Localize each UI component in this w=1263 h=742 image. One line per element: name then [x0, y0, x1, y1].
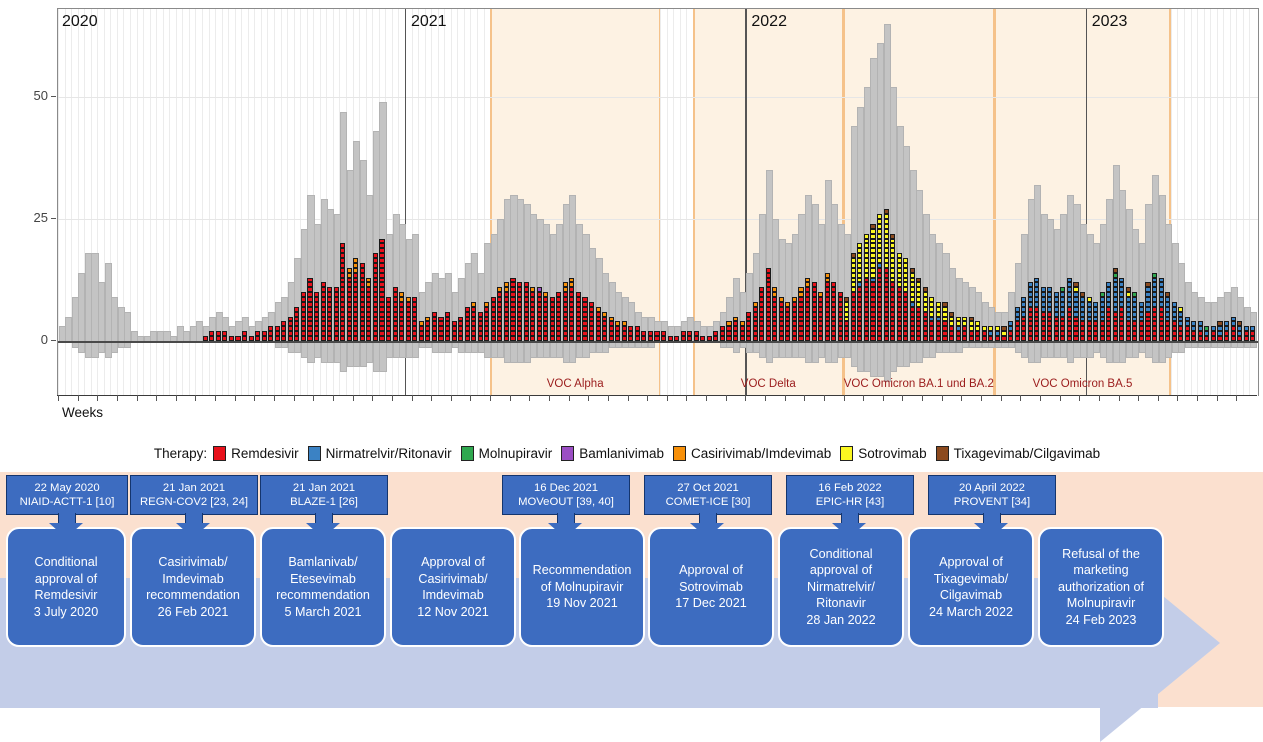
therapy-cell — [314, 326, 319, 331]
therapy-cell — [1237, 321, 1242, 326]
therapy-cell — [340, 282, 345, 287]
therapy-cell — [373, 282, 378, 287]
therapy-cell — [393, 331, 398, 336]
therapy-cell — [510, 282, 515, 287]
therapy-cell — [340, 326, 345, 331]
therapy-cell — [884, 239, 889, 244]
therapy-cell — [1211, 326, 1216, 331]
x-axis-tick — [981, 395, 982, 401]
therapy-cell — [301, 292, 306, 297]
legend-swatch-icon — [840, 446, 853, 461]
therapy-cell — [1021, 312, 1026, 317]
therapy-cell — [478, 312, 483, 317]
x-axis-tick — [1060, 395, 1061, 401]
therapy-cell — [576, 317, 581, 322]
therapy-cell — [890, 317, 895, 322]
therapy-cell — [1172, 326, 1177, 331]
therapy-cell — [753, 302, 758, 307]
therapy-cell — [347, 278, 352, 283]
therapy-cell — [766, 268, 771, 273]
therapy-cell — [694, 331, 699, 336]
therapy-cell — [484, 302, 489, 307]
therapy-cell — [307, 317, 312, 322]
therapy-cell — [301, 326, 306, 331]
therapy-cell — [1145, 331, 1150, 336]
therapy-cell — [805, 287, 810, 292]
therapy-cell — [628, 331, 633, 336]
therapy-cell — [759, 321, 764, 326]
therapy-cell — [798, 287, 803, 292]
therapy-cell — [334, 307, 339, 312]
therapy-cell — [753, 312, 758, 317]
therapy-cell — [1106, 312, 1111, 317]
therapy-cell — [903, 258, 908, 263]
therapy-cell — [399, 302, 404, 307]
therapy-cell — [877, 263, 882, 268]
therapy-cell — [929, 331, 934, 336]
x-axis-tick — [97, 395, 98, 401]
therapy-cell — [1054, 292, 1059, 297]
therapy-cell — [347, 321, 352, 326]
therapy-cell — [425, 321, 430, 326]
legend-item-molnupiravir: Molnupiravir — [461, 446, 553, 461]
timeline-outcome-box[interactable]: Refusal of the marketing authorization o… — [1038, 527, 1164, 647]
therapy-cell — [550, 307, 555, 312]
therapy-cell — [1237, 326, 1242, 331]
therapy-cell — [1015, 321, 1020, 326]
therapy-cell — [393, 321, 398, 326]
therapy-cell — [857, 268, 862, 273]
therapy-cell — [831, 321, 836, 326]
therapy-cell — [910, 278, 915, 283]
therapy-cell — [897, 317, 902, 322]
therapy-cell — [262, 331, 267, 336]
timeline-outcome-box[interactable]: Approval of Tixagevimab/ Cilgavimab 24 M… — [908, 527, 1034, 647]
therapy-cell — [379, 331, 384, 336]
therapy-cell — [857, 302, 862, 307]
timeline-down-arrow-icon — [49, 513, 83, 539]
therapy-cell — [478, 317, 483, 322]
therapy-cell — [818, 317, 823, 322]
therapy-cell — [484, 326, 489, 331]
therapy-cell — [1047, 317, 1052, 322]
therapy-cell — [1054, 312, 1059, 317]
timeline-outcome-box[interactable]: Casirivimab/ Imdevimab recommendation 26… — [130, 527, 256, 647]
therapy-cell — [497, 297, 502, 302]
therapy-cell — [877, 287, 882, 292]
therapy-cell — [864, 292, 869, 297]
x-axis-tick — [1197, 395, 1198, 401]
therapy-cell — [582, 326, 587, 331]
legend-label: Casirivimab/Imdevimab — [691, 446, 831, 461]
therapy-cell — [890, 321, 895, 326]
therapy-cell — [373, 292, 378, 297]
x-axis-tick — [667, 395, 668, 401]
therapy-cell — [923, 307, 928, 312]
therapy-cell — [825, 331, 830, 336]
therapy-cell — [1080, 307, 1085, 312]
therapy-cell — [864, 302, 869, 307]
therapy-cell — [517, 321, 522, 326]
therapy-cell — [543, 292, 548, 297]
therapy-cell — [379, 258, 384, 263]
therapy-cell — [1217, 331, 1222, 336]
therapy-cell — [884, 331, 889, 336]
therapy-cell — [1100, 326, 1105, 331]
therapy-cell — [622, 321, 627, 326]
therapy-cell — [543, 312, 548, 317]
therapy-cell — [556, 292, 561, 297]
therapy-cell — [340, 307, 345, 312]
x-axis-tick — [588, 395, 589, 401]
therapy-cell — [844, 331, 849, 336]
therapy-cell — [897, 263, 902, 268]
therapy-cell — [890, 302, 895, 307]
therapy-cell — [897, 302, 902, 307]
x-axis-tick — [883, 395, 884, 401]
voc-period-label: VOC Delta — [741, 378, 796, 390]
therapy-cell — [851, 282, 856, 287]
therapy-cell — [321, 317, 326, 322]
therapy-cell — [353, 312, 358, 317]
x-axis-tick — [451, 395, 452, 401]
therapy-cell — [713, 331, 718, 336]
x-axis-tick — [431, 395, 432, 401]
therapy-cell — [1067, 287, 1072, 292]
therapy-cell — [1021, 297, 1026, 302]
therapy-cell — [1172, 321, 1177, 326]
therapy-cell — [510, 302, 515, 307]
therapy-cell — [360, 312, 365, 317]
therapy-cell — [347, 287, 352, 292]
therapy-cell — [942, 302, 947, 307]
therapy-cell — [870, 292, 875, 297]
therapy-cell — [452, 326, 457, 331]
x-axis-tick — [313, 395, 314, 401]
therapy-cell — [687, 331, 692, 336]
therapy-cell — [543, 297, 548, 302]
therapy-cell — [903, 317, 908, 322]
therapy-cell — [393, 292, 398, 297]
therapy-cell — [576, 302, 581, 307]
therapy-cell — [288, 331, 293, 336]
therapy-cell — [1172, 331, 1177, 336]
therapy-cell — [1034, 331, 1039, 336]
therapy-cell — [884, 292, 889, 297]
therapy-cell — [458, 317, 463, 322]
therapy-cell — [1145, 297, 1150, 302]
x-axis-tick — [706, 395, 707, 401]
therapy-cell — [766, 331, 771, 336]
therapy-cell — [923, 317, 928, 322]
timeline-study-box[interactable]: 22 May 2020NIAID-ACTT-1 [10] — [6, 475, 128, 515]
therapy-cell — [360, 297, 365, 302]
therapy-cell — [327, 312, 332, 317]
therapy-cell — [916, 307, 921, 312]
therapy-cell — [766, 278, 771, 283]
therapy-cell — [942, 312, 947, 317]
timeline-down-arrow-icon — [176, 513, 210, 539]
therapy-cell — [1100, 331, 1105, 336]
timeline-study-box[interactable]: 16 Feb 2022EPIC-HR [43] — [786, 475, 914, 515]
x-axis-tick — [1001, 395, 1002, 401]
therapy-cell — [884, 258, 889, 263]
therapy-cell — [1119, 312, 1124, 317]
therapy-cell — [1204, 326, 1209, 331]
therapy-cell — [379, 307, 384, 312]
therapy-cell — [851, 287, 856, 292]
therapy-cell — [1165, 312, 1170, 317]
x-axis-tick — [765, 395, 766, 401]
therapy-cell — [785, 317, 790, 322]
therapy-cell — [772, 292, 777, 297]
therapy-cell — [294, 307, 299, 312]
therapy-cell — [406, 307, 411, 312]
therapy-cell — [929, 326, 934, 331]
therapy-cell — [1087, 321, 1092, 326]
therapy-cell — [471, 326, 476, 331]
timeline-outcome-box[interactable]: Conditional approval of Remdesivir 3 Jul… — [6, 527, 126, 647]
therapy-cell — [726, 321, 731, 326]
therapy-cell — [766, 273, 771, 278]
timeline-outcome-box[interactable]: Conditional approval of Nirmatrelvir/ Ri… — [778, 527, 904, 647]
therapy-cell — [982, 326, 987, 331]
therapy-cell — [517, 317, 522, 322]
therapy-cell — [877, 253, 882, 258]
therapy-cell — [772, 307, 777, 312]
therapy-cell — [1145, 282, 1150, 287]
therapy-cell — [916, 297, 921, 302]
therapy-cell — [327, 321, 332, 326]
therapy-cell — [537, 292, 542, 297]
timeline-down-arrow-icon — [832, 513, 866, 539]
therapy-cell — [825, 321, 830, 326]
therapy-cell — [825, 326, 830, 331]
therapy-cell — [870, 307, 875, 312]
therapy-cell — [818, 292, 823, 297]
therapy-cell — [949, 326, 954, 331]
therapy-cell — [484, 312, 489, 317]
therapy-cell — [393, 326, 398, 331]
therapy-cell — [360, 292, 365, 297]
therapy-cell — [321, 307, 326, 312]
legend-label: Sotrovimab — [858, 446, 926, 461]
therapy-cell — [484, 317, 489, 322]
therapy-cell — [831, 326, 836, 331]
therapy-cell — [903, 321, 908, 326]
therapy-cell — [458, 321, 463, 326]
timeline-outcome-box[interactable]: Recommendation of Molnupiravir 19 Nov 20… — [519, 527, 645, 647]
therapy-cell — [864, 287, 869, 292]
therapy-cell — [1198, 326, 1203, 331]
therapy-cell — [995, 331, 1000, 336]
therapy-cell — [759, 287, 764, 292]
timeline-study-box[interactable]: 16 Dec 2021MOVeOUT [39, 40] — [502, 475, 630, 515]
therapy-cell — [386, 297, 391, 302]
therapy-cell — [838, 302, 843, 307]
x-axis-tick — [1177, 395, 1178, 401]
therapy-cell — [386, 317, 391, 322]
therapy-cell — [1106, 317, 1111, 322]
therapy-cell — [393, 312, 398, 317]
therapy-cell — [510, 331, 515, 336]
therapy-cell — [766, 326, 771, 331]
therapy-cell — [844, 302, 849, 307]
therapy-cell — [589, 307, 594, 312]
x-axis-tick — [1158, 395, 1159, 401]
therapy-cell — [870, 282, 875, 287]
therapy-cell — [301, 317, 306, 322]
therapy-cell — [884, 253, 889, 258]
therapy-cell — [1028, 302, 1033, 307]
therapy-cell — [890, 292, 895, 297]
therapy-cell — [510, 312, 515, 317]
timeline-study-box[interactable]: 21 Jan 2021BLAZE-1 [26] — [260, 475, 388, 515]
timeline-study-box[interactable]: 20 April 2022PROVENT [34] — [928, 475, 1056, 515]
therapy-cell — [524, 312, 529, 317]
therapy-cell — [1172, 307, 1177, 312]
therapy-cell — [798, 326, 803, 331]
therapy-cell — [366, 302, 371, 307]
therapy-cell — [890, 307, 895, 312]
x-axis-tick — [333, 395, 334, 401]
therapy-cell — [746, 326, 751, 331]
therapy-cell — [1106, 292, 1111, 297]
therapy-cell — [884, 248, 889, 253]
therapy-cell — [1231, 326, 1236, 331]
therapy-cell — [497, 321, 502, 326]
therapy-cell — [1100, 297, 1105, 302]
therapy-cell — [936, 307, 941, 312]
therapy-cell — [1113, 273, 1118, 278]
therapy-cell — [844, 307, 849, 312]
therapy-cell — [805, 307, 810, 312]
therapy-cell — [818, 326, 823, 331]
therapy-cell — [504, 292, 509, 297]
legend-swatch-icon — [673, 446, 686, 461]
therapy-cell — [524, 307, 529, 312]
therapy-cell — [347, 302, 352, 307]
therapy-cell — [353, 287, 358, 292]
therapy-cell — [321, 321, 326, 326]
therapy-cell — [373, 268, 378, 273]
therapy-cell — [1178, 307, 1183, 312]
therapy-cell — [1060, 302, 1065, 307]
therapy-cell — [890, 278, 895, 283]
therapy-cell — [1087, 326, 1092, 331]
therapy-cell — [949, 312, 954, 317]
therapy-cell — [779, 312, 784, 317]
timeline-study-box[interactable]: 27 Oct 2021COMET-ICE [30] — [644, 475, 772, 515]
therapy-cell — [327, 302, 332, 307]
therapy-cell — [864, 248, 869, 253]
therapy-cell — [870, 317, 875, 322]
therapy-cell — [1113, 302, 1118, 307]
therapy-cell — [805, 297, 810, 302]
therapy-cell — [360, 317, 365, 322]
therapy-cell — [1119, 297, 1124, 302]
therapy-cell — [543, 326, 548, 331]
x-axis-tick — [117, 395, 118, 401]
timeline-outcome-box[interactable]: Approval of Casirivimab/ Imdevimab 12 No… — [390, 527, 516, 647]
therapy-cell — [1087, 312, 1092, 317]
therapy-cell — [1100, 307, 1105, 312]
therapy-cell — [412, 317, 417, 322]
timeline-study-box[interactable]: 21 Jan 2021REGN-COV2 [23, 24] — [130, 475, 258, 515]
therapy-cell — [923, 331, 928, 336]
y-tick-mark-50 — [51, 96, 56, 97]
therapy-cell — [897, 258, 902, 263]
therapy-cell — [353, 321, 358, 326]
therapy-cell — [1132, 302, 1137, 307]
therapy-cell — [1159, 278, 1164, 283]
therapy-cell — [1100, 312, 1105, 317]
therapy-cell — [1034, 321, 1039, 326]
therapy-cell — [1126, 331, 1131, 336]
therapy-cell — [798, 307, 803, 312]
year-label: 2021 — [411, 13, 447, 31]
therapy-cell — [353, 282, 358, 287]
therapy-cell — [301, 307, 306, 312]
therapy-cell — [504, 331, 509, 336]
therapy-cell — [746, 321, 751, 326]
therapy-cell — [772, 287, 777, 292]
therapy-cell — [1067, 297, 1072, 302]
therapy-cell — [563, 297, 568, 302]
therapy-cell — [1139, 302, 1144, 307]
therapy-cell — [949, 317, 954, 322]
therapy-cell — [942, 331, 947, 336]
therapy-cell — [307, 331, 312, 336]
therapy-cell — [510, 307, 515, 312]
therapy-cell — [1034, 282, 1039, 287]
x-axis-tick — [1138, 395, 1139, 401]
therapy-cell — [340, 312, 345, 317]
therapy-cell — [1080, 326, 1085, 331]
therapy-cell — [399, 297, 404, 302]
therapy-cell — [929, 317, 934, 322]
therapy-cell — [491, 321, 496, 326]
therapy-cell — [321, 287, 326, 292]
x-axis-tick — [392, 395, 393, 401]
therapy-cell — [373, 317, 378, 322]
therapy-cell — [890, 263, 895, 268]
therapy-cell — [1152, 287, 1157, 292]
therapy-cell — [1172, 317, 1177, 322]
therapy-cell — [360, 321, 365, 326]
therapy-cell — [864, 278, 869, 283]
x-axis-tick — [608, 395, 609, 401]
therapy-cell — [517, 287, 522, 292]
timeline-outcome-box[interactable]: Approval of Sotrovimab 17 Dec 2021 — [648, 527, 774, 647]
therapy-cell — [465, 312, 470, 317]
therapy-cell — [916, 326, 921, 331]
therapy-cell — [766, 292, 771, 297]
therapy-cell — [1060, 307, 1065, 312]
therapy-cell — [877, 282, 882, 287]
therapy-cell — [988, 326, 993, 331]
therapy-cell — [530, 307, 535, 312]
therapy-cell — [537, 326, 542, 331]
therapy-cell — [969, 326, 974, 331]
therapy-cell — [1231, 321, 1236, 326]
therapy-cell — [334, 312, 339, 317]
therapy-cell — [1145, 326, 1150, 331]
therapy-cell — [877, 273, 882, 278]
timeline-outcome-box[interactable]: Bamlanivab/ Etesevimab recommendation 5 … — [260, 527, 386, 647]
therapy-cell — [1054, 331, 1059, 336]
therapy-cell — [1113, 317, 1118, 322]
